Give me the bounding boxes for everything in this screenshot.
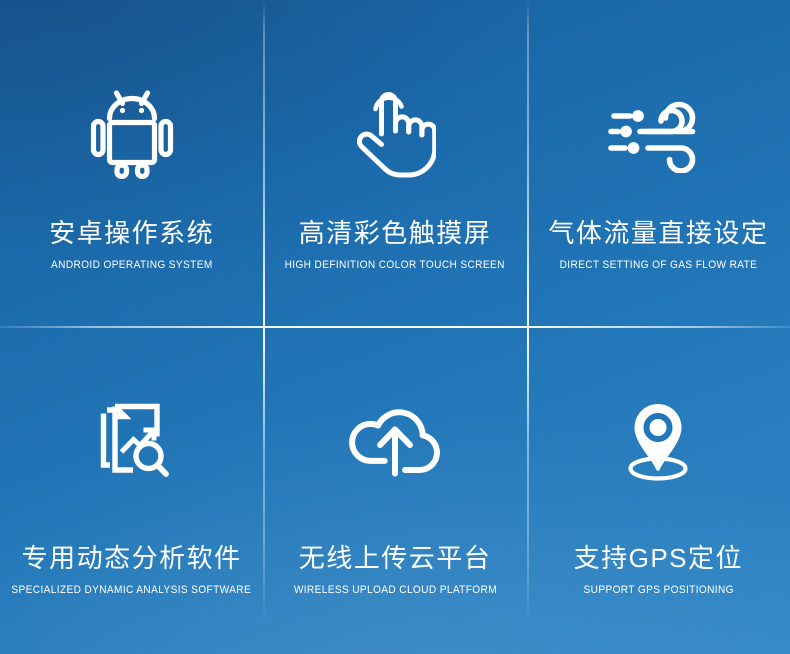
feature-cell-android[interactable]: 安卓操作系统 ANDROID OPERATING SYSTEM — [0, 0, 263, 327]
feature-subtitle: DIRECT SETTING OF GAS FLOW RATE — [559, 260, 757, 271]
cloud-upload-icon — [263, 367, 526, 517]
wind-flow-icon — [527, 58, 790, 208]
feature-cell-analysis-software[interactable]: 专用动态分析软件 SPECIALIZED DYNAMIC ANALYSIS SO… — [0, 327, 263, 654]
feature-grid-banner: 安卓操作系统 ANDROID OPERATING SYSTEM 高清彩色触摸屏 … — [0, 0, 790, 654]
android-robot-icon — [0, 58, 263, 208]
feature-cell-cloud-upload[interactable]: 无线上传云平台 WIRELESS UPLOAD CLOUD PLATFORM — [263, 327, 526, 654]
feature-title: 无线上传云平台 — [299, 545, 492, 571]
feature-subtitle: SUPPORT GPS POSITIONING — [583, 585, 733, 596]
feature-cell-gas-flow[interactable]: 气体流量直接设定 DIRECT SETTING OF GAS FLOW RATE — [527, 0, 790, 327]
feature-subtitle: SPECIALIZED DYNAMIC ANALYSIS SOFTWARE — [12, 585, 252, 596]
feature-subtitle: HIGH DEFINITION COLOR TOUCH SCREEN — [285, 260, 505, 271]
feature-title: 安卓操作系统 — [49, 220, 214, 246]
feature-subtitle: ANDROID OPERATING SYSTEM — [51, 260, 213, 271]
document-chart-search-icon — [0, 367, 263, 517]
map-pin-location-icon — [527, 367, 790, 517]
feature-title: 气体流量直接设定 — [548, 220, 768, 246]
feature-cell-touch-screen[interactable]: 高清彩色触摸屏 HIGH DEFINITION COLOR TOUCH SCRE… — [263, 0, 526, 327]
feature-title: 高清彩色触摸屏 — [299, 220, 492, 246]
feature-title: 专用动态分析软件 — [22, 545, 242, 571]
feature-grid: 安卓操作系统 ANDROID OPERATING SYSTEM 高清彩色触摸屏 … — [0, 0, 790, 654]
feature-title: 支持GPS定位 — [574, 545, 743, 571]
feature-cell-gps[interactable]: 支持GPS定位 SUPPORT GPS POSITIONING — [527, 327, 790, 654]
touch-hand-icon — [263, 58, 526, 208]
feature-subtitle: WIRELESS UPLOAD CLOUD PLATFORM — [293, 585, 496, 596]
